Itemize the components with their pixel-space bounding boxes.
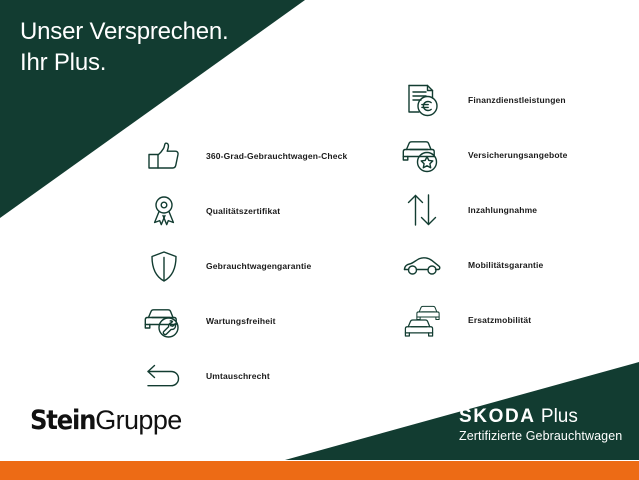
skoda-plus-wordmark: SKODA Plus <box>459 406 622 427</box>
thumbs-up-icon <box>140 132 188 180</box>
orange-accent-bar <box>0 461 639 480</box>
feature-item: Gebrauchtwagengarantie <box>140 238 347 293</box>
car-side-icon <box>398 241 446 289</box>
feature-item: Mobilitätsgarantie <box>398 237 568 292</box>
feature-item: Inzahlungnahme <box>398 182 568 237</box>
feature-label: Versicherungsangebote <box>468 150 568 160</box>
feature-label: Wartungsfreiheit <box>206 316 276 326</box>
skoda-wordmark: SKODA <box>459 406 536 427</box>
feature-item: Umtauschrecht <box>140 348 347 403</box>
plus-wordmark: Plus <box>536 406 578 427</box>
feature-label: Inzahlungnahme <box>468 205 537 215</box>
skoda-plus-logo: SKODA Plus Zertifizierte Gebrauchtwagen <box>459 406 622 444</box>
feature-item: Qualitätszertifikat <box>140 183 347 238</box>
headline-line-2: Ihr Plus. <box>20 47 229 78</box>
shield-icon <box>140 242 188 290</box>
feature-list-left: 360-Grad-Gebrauchtwagen-Check Qualitätsz… <box>140 128 347 403</box>
feature-label: Qualitätszertifikat <box>206 206 280 216</box>
feature-item: Finanzdienstleistungen <box>398 72 568 127</box>
skoda-tagline: Zertifizierte Gebrauchtwagen <box>459 428 622 444</box>
two-cars-icon <box>398 296 446 344</box>
headline: Unser Versprechen. Ihr Plus. <box>20 16 229 78</box>
feature-item: Wartungsfreiheit <box>140 293 347 348</box>
promo-banner: Unser Versprechen. Ihr Plus. 360-Grad-Ge… <box>0 0 639 480</box>
feature-item: Ersatzmobilität <box>398 292 568 347</box>
return-arrow-icon <box>140 352 188 400</box>
stein-gruppe-logo: SteinGruppe <box>30 405 182 436</box>
gruppe-wordmark: Gruppe <box>95 405 181 435</box>
up-down-arrows-icon <box>398 186 446 234</box>
award-rosette-icon <box>140 187 188 235</box>
feature-label: Ersatzmobilität <box>468 315 531 325</box>
feature-item: 360-Grad-Gebrauchtwagen-Check <box>140 128 347 183</box>
document-euro-icon <box>398 76 446 124</box>
feature-label: Finanzdienstleistungen <box>468 95 566 105</box>
feature-label: Umtauschrecht <box>206 371 270 381</box>
car-star-icon <box>398 131 446 179</box>
feature-label: Gebrauchtwagengarantie <box>206 261 311 271</box>
car-wrench-icon <box>140 297 188 345</box>
headline-line-1: Unser Versprechen. <box>20 18 229 45</box>
feature-label: Mobilitätsgarantie <box>468 260 543 270</box>
feature-item: Versicherungsangebote <box>398 127 568 182</box>
feature-label: 360-Grad-Gebrauchtwagen-Check <box>206 151 347 161</box>
stein-wordmark: Stein <box>30 405 95 436</box>
feature-list-right: Finanzdienstleistungen Versicherungsange… <box>398 72 568 347</box>
